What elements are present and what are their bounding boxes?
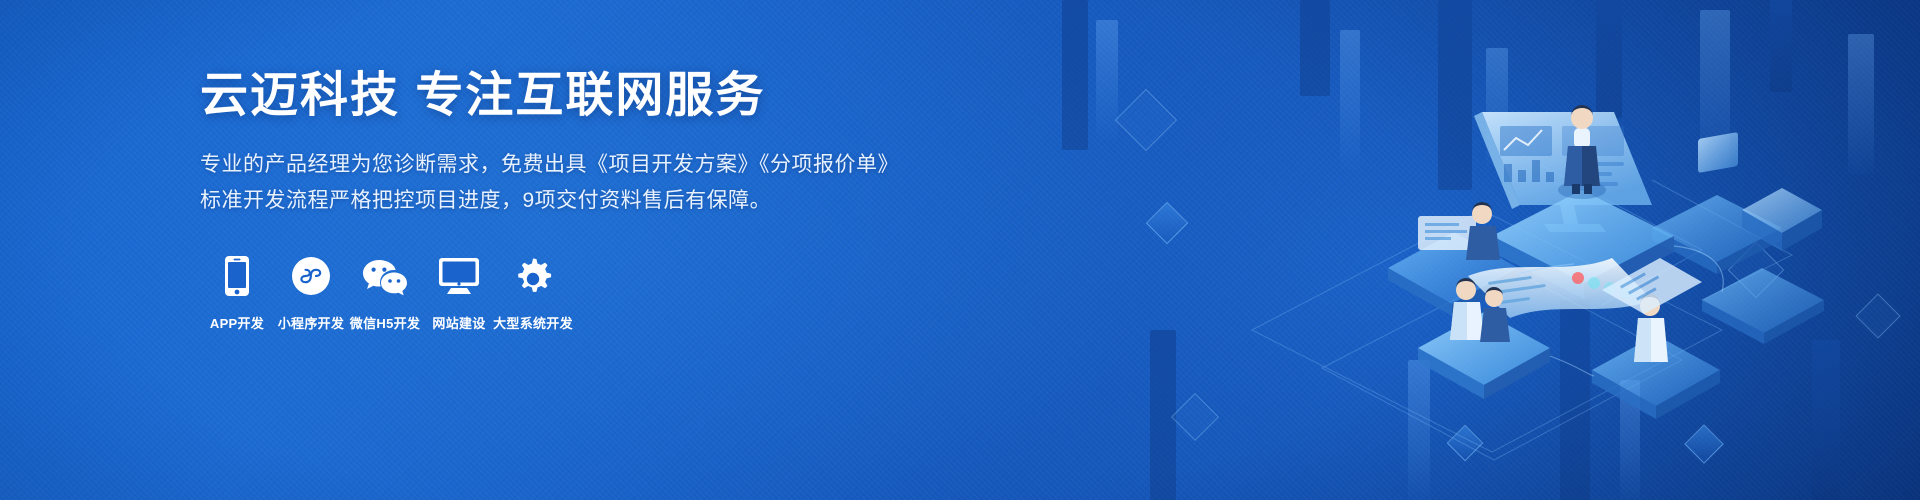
gear-icon bbox=[512, 253, 554, 299]
service-label: 大型系统开发 bbox=[493, 313, 573, 332]
deco-bar bbox=[1150, 330, 1176, 500]
hero-banner: 云迈科技 专注互联网服务 专业的产品经理为您诊断需求，免费出具《项目开发方案》《… bbox=[0, 0, 1920, 500]
banner-content: 云迈科技 专注互联网服务 专业的产品经理为您诊断需求，免费出具《项目开发方案》《… bbox=[200, 68, 960, 332]
service-item-mini-program[interactable]: 小程序开发 bbox=[274, 253, 348, 332]
deco-bar bbox=[1096, 20, 1118, 140]
banner-subtitle-line-2: 标准开发流程严格把控项目进度，9项交付资料售后有保障。 bbox=[200, 183, 960, 219]
banner-subtitle: 专业的产品经理为您诊断需求，免费出具《项目开发方案》《分项报价单》 标准开发流程… bbox=[200, 147, 960, 219]
deco-bar bbox=[1062, 0, 1088, 150]
mini-program-icon bbox=[291, 253, 331, 299]
service-label: 网站建设 bbox=[432, 313, 485, 332]
service-label: 微信H5开发 bbox=[350, 313, 420, 332]
service-list: APP开发 小程序开发 bbox=[200, 253, 960, 332]
service-item-large-system[interactable]: 大型系统开发 bbox=[496, 253, 570, 332]
service-label: APP开发 bbox=[210, 313, 264, 332]
wechat-icon bbox=[362, 253, 408, 299]
service-item-website[interactable]: 网站建设 bbox=[422, 253, 496, 332]
hero-illustration bbox=[1182, 0, 1882, 500]
mobile-phone-icon bbox=[224, 253, 250, 299]
service-item-app[interactable]: APP开发 bbox=[200, 253, 274, 332]
banner-subtitle-line-1: 专业的产品经理为您诊断需求，免费出具《项目开发方案》《分项报价单》 bbox=[200, 147, 960, 183]
deco-diamond bbox=[1115, 89, 1177, 151]
service-label: 小程序开发 bbox=[278, 313, 345, 332]
monitor-icon bbox=[438, 253, 480, 299]
banner-headline: 云迈科技 专注互联网服务 bbox=[200, 68, 960, 125]
service-item-wechat-h5[interactable]: 微信H5开发 bbox=[348, 253, 422, 332]
